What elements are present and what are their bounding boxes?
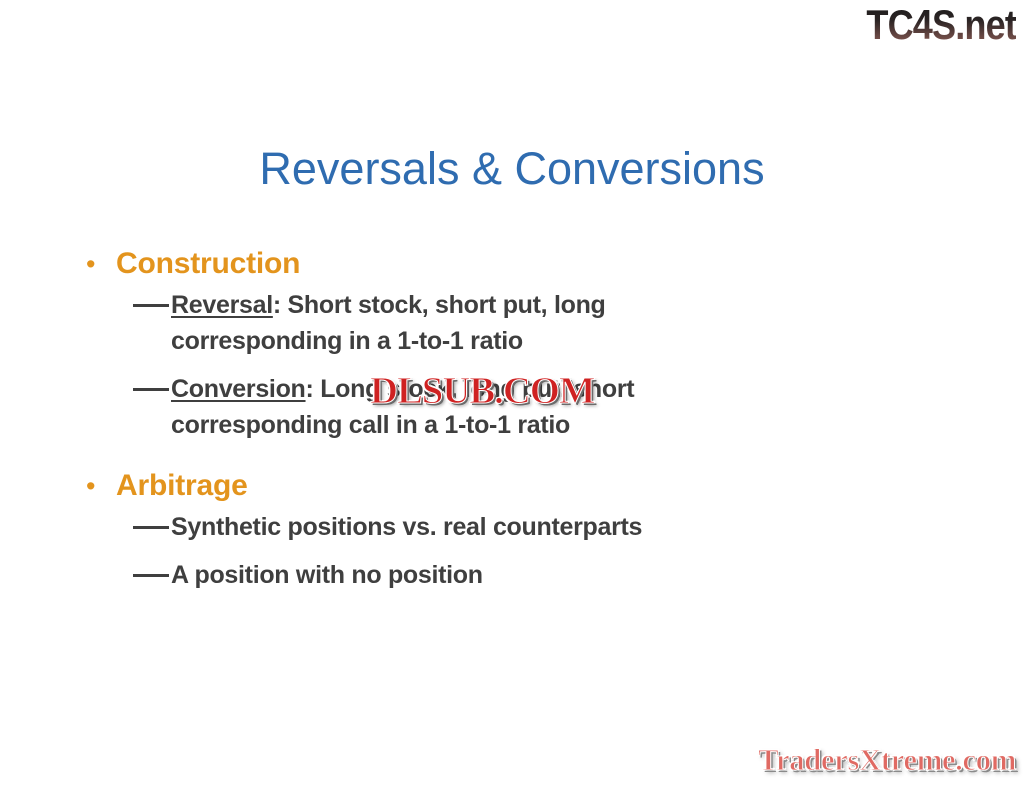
list-item-term: Conversion bbox=[171, 375, 306, 403]
em-dash-icon bbox=[131, 287, 171, 323]
list-item-text: Reversal: Short stock, short put, long c… bbox=[171, 287, 771, 359]
list-item-separator: : bbox=[306, 375, 321, 403]
list-item-term: Reversal bbox=[171, 291, 273, 319]
list-item: A position with no position bbox=[0, 557, 1024, 593]
em-dash-icon bbox=[131, 557, 171, 593]
list-item-text: A position with no position bbox=[171, 557, 483, 593]
section-heading-label: Arbitrage bbox=[116, 465, 248, 507]
slide-body: • Construction Reversal: Short stock, sh… bbox=[0, 243, 1024, 593]
bullet-dot-icon: • bbox=[86, 243, 116, 285]
page-title: Reversals & Conversions bbox=[0, 143, 1024, 195]
tradersxtreme-badge: TradersXtreme.com bbox=[758, 743, 1016, 777]
section-heading-arbitrage: • Arbitrage bbox=[0, 465, 1024, 507]
list-item-text: Conversion: Long stock, long put, short … bbox=[171, 371, 771, 443]
em-dash-icon bbox=[131, 371, 171, 407]
list-item-separator: : bbox=[273, 291, 288, 319]
em-dash-icon bbox=[131, 509, 171, 545]
list-item-text: Synthetic positions vs. real counterpart… bbox=[171, 509, 642, 545]
list-item: Reversal: Short stock, short put, long c… bbox=[0, 287, 1024, 359]
list-item: Conversion: Long stock, long put, short … bbox=[0, 371, 1024, 443]
list-item: Synthetic positions vs. real counterpart… bbox=[0, 509, 1024, 545]
section-heading-label: Construction bbox=[116, 243, 300, 285]
bullet-dot-icon: • bbox=[86, 465, 116, 507]
section-heading-construction: • Construction bbox=[0, 243, 1024, 285]
tc4s-logo: TC4S.net bbox=[866, 2, 1016, 48]
